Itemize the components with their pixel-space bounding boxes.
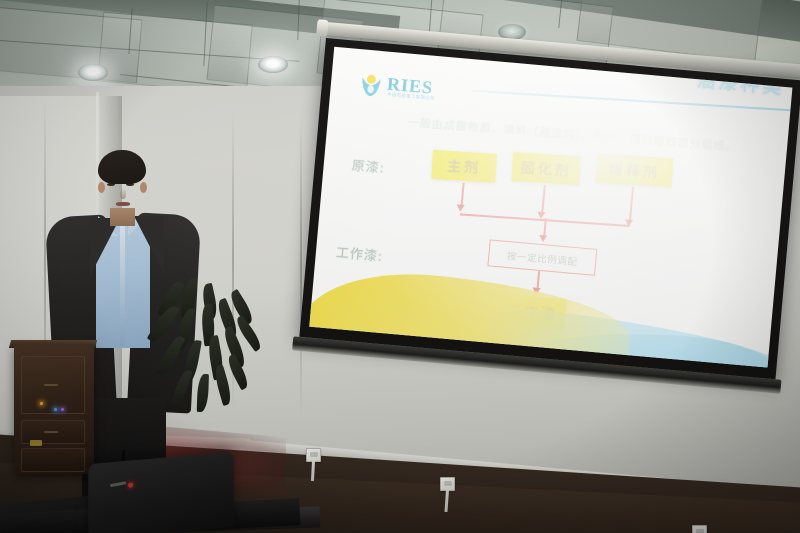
component-box-1: 主剂 (431, 150, 497, 183)
arrow-head-1-icon (456, 204, 465, 212)
wall-outlet (692, 525, 707, 533)
ceiling-downlight (258, 56, 288, 73)
ear-left (98, 182, 105, 193)
jacket-lapel-right (134, 216, 164, 274)
ries-logo-mark-icon (358, 73, 384, 99)
mouth (116, 202, 130, 206)
arrow-head-4-icon (539, 235, 548, 243)
cabinet-label (30, 440, 42, 446)
room-photo-scene: RIES 中国船舶重工集团公司 油漆种类 一般由成膜物质、填料（颜造料）、助剂、… (0, 0, 800, 533)
status-led-amber (40, 402, 43, 405)
wall-outlet (306, 448, 321, 462)
wall-outlet (440, 477, 455, 491)
cabinet (14, 344, 94, 474)
screen-roller-cap-left (316, 19, 328, 37)
jacket-lapel-left (90, 218, 120, 276)
potted-plant (166, 278, 276, 428)
status-led-blue (54, 408, 57, 411)
presentation-slide: RIES 中国船舶重工集团公司 油漆种类 一般由成膜物质、填料（颜造料）、助剂、… (309, 47, 792, 368)
arrow-down-2 (541, 185, 545, 215)
screen-frame: RIES 中国船舶重工集团公司 油漆种类 一般由成膜物质、填料（颜造料）、助剂、… (299, 38, 800, 379)
ries-logo: RIES 中国船舶重工集团公司 (358, 71, 452, 109)
shirt-placket (120, 224, 125, 346)
hair (98, 150, 146, 184)
wall-seam (300, 118, 302, 418)
label-raw-paint: 原漆: (351, 155, 386, 177)
laptop-logo-text (110, 481, 126, 487)
laptop-logo-dot-icon (128, 482, 132, 487)
ear-right (140, 182, 147, 193)
process-box: 按一定比例调配 (487, 239, 597, 275)
slide-body-text: 一般由成膜物质、填料（颜造料）、助剂、溶剂等四部分组成。 (407, 114, 738, 155)
status-led-violet (61, 408, 64, 411)
component-box-2: 固化剂 (511, 152, 581, 185)
laptop (88, 451, 233, 533)
ceiling-downlight (78, 64, 108, 81)
cabinet-drawer (21, 448, 85, 472)
projection-screen-assembly: RIES 中国船舶重工集团公司 油漆种类 一般由成膜物质、填料（颜造料）、助剂、… (298, 38, 800, 399)
label-working-paint: 工作漆: (335, 242, 384, 265)
plant-leaf (197, 374, 209, 412)
plant-leaf (170, 368, 193, 409)
nose (120, 188, 126, 199)
component-box-3: 稀释剂 (596, 154, 674, 188)
arrow-down-3 (629, 187, 634, 223)
